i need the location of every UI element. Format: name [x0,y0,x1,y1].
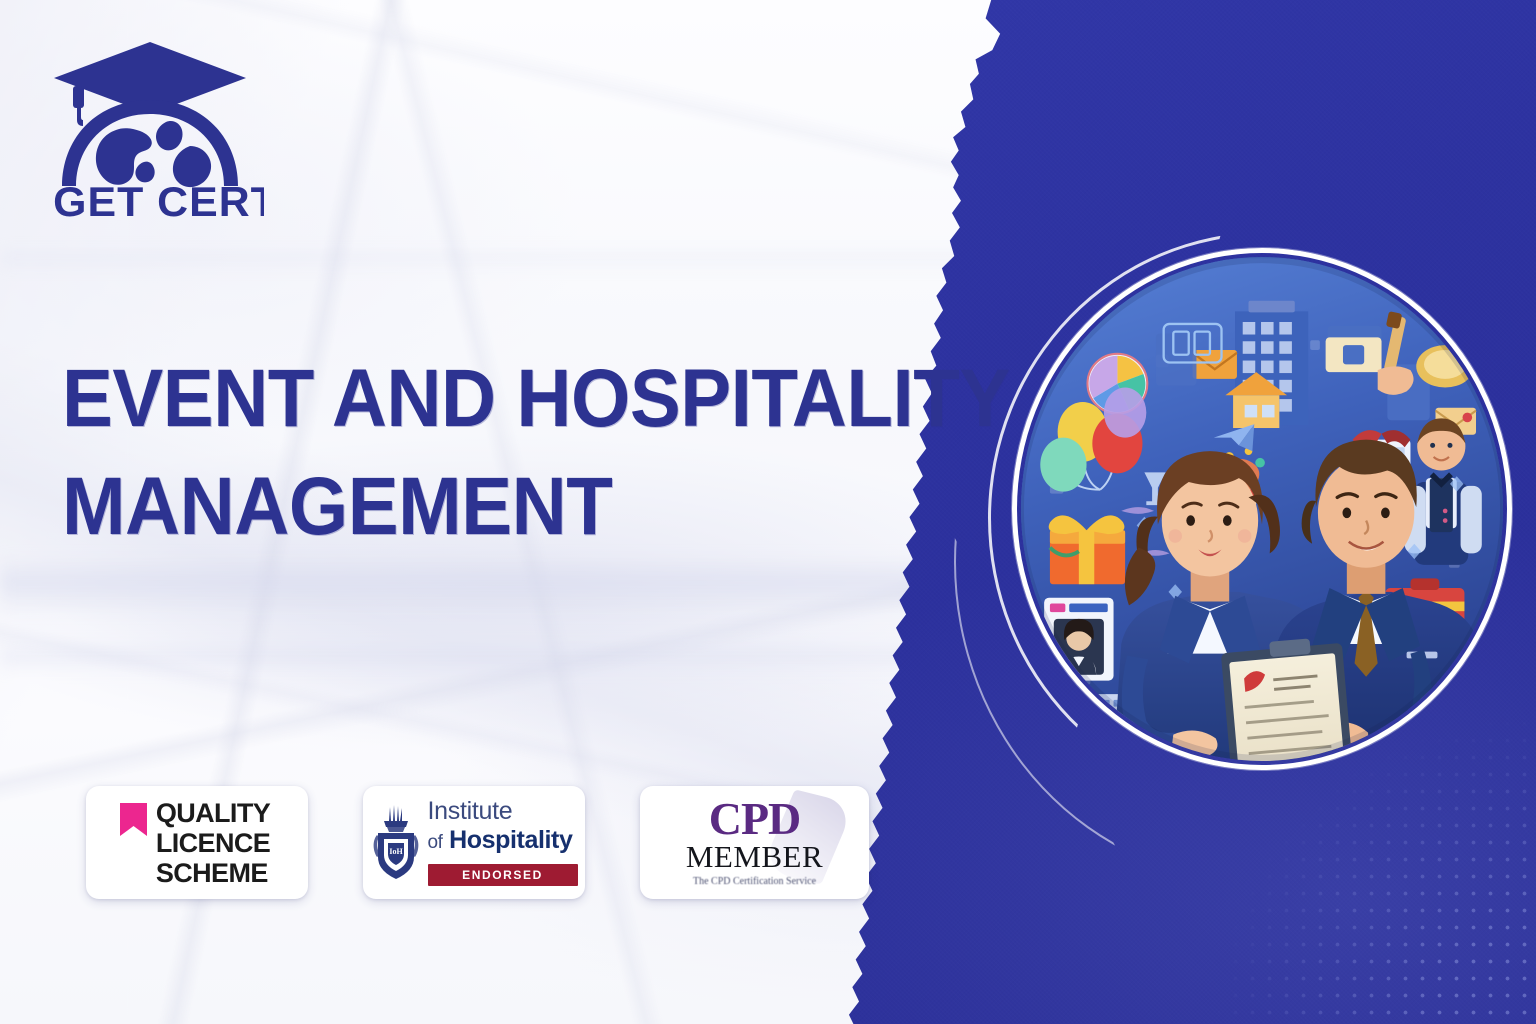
course-banner: GET CERTIFY EVENT AND HOSPITALITY MANAGE… [0,0,1536,1024]
ioh-of: of [428,832,443,853]
logo-wordmark: GET CERTIFY [53,178,264,220]
badge-cpd-member[interactable]: CPD MEMBER The CPD Certification Service [640,786,869,899]
title-line-2: MANAGEMENT [62,453,880,561]
hero-illustration [1012,248,1512,770]
cpd-wordmark: CPD [709,797,801,841]
brand-logo[interactable]: GET CERTIFY [44,34,264,220]
svg-text:IoH: IoH [389,847,403,856]
ioh-line-2: Hospitality [449,826,572,854]
graduation-cap-globe-icon: GET CERTIFY [44,34,264,220]
accreditation-badge-row: QUALITY LICENCE SCHEME [86,786,869,899]
cpd-member-label: MEMBER [686,841,823,873]
qls-line-2: LICENCE [156,828,270,858]
qls-line-3: SCHEME [156,858,270,888]
page-title: EVENT AND HOSPITALITY MANAGEMENT [62,345,942,561]
qls-line-1: QUALITY [156,798,270,828]
badge-institute-of-hospitality[interactable]: IoH Institute of Hospitality ENDORSED [363,786,585,899]
ioh-endorsed-ribbon: ENDORSED [428,864,578,886]
bookmark-icon [120,803,147,836]
title-line-1: EVENT AND HOSPITALITY [62,345,880,453]
badge-quality-licence-scheme[interactable]: QUALITY LICENCE SCHEME [86,786,308,899]
ioh-line-1: Institute [428,799,578,824]
heraldic-crest-icon: IoH [371,805,421,881]
event-hospitality-illustration [1021,257,1503,761]
cpd-subtitle: The CPD Certification Service [665,876,845,888]
illustration-canvas [1021,257,1503,761]
